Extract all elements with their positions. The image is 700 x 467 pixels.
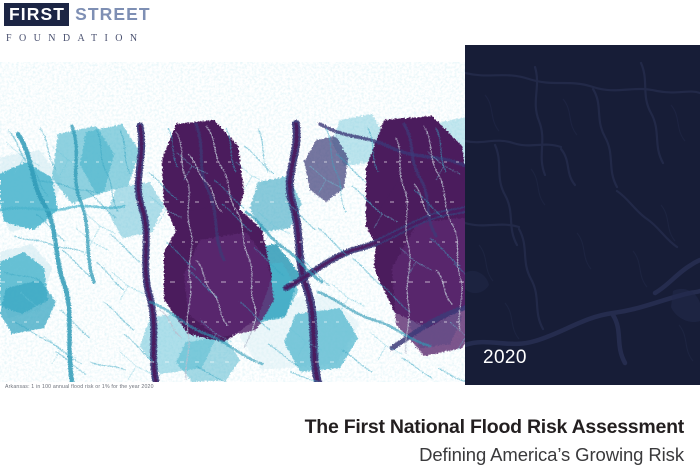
logo-street-text: STREET bbox=[75, 3, 151, 26]
logo-first-box: FIRST bbox=[4, 3, 69, 26]
page-title: The First National Flood Risk Assessment bbox=[14, 415, 684, 439]
year-label: 2020 bbox=[483, 347, 527, 369]
dark-panel-rivers-svg bbox=[465, 45, 700, 385]
logo-foundation-text: FOUNDATION bbox=[6, 34, 164, 44]
page-subtitle: Defining America’s Growing Risk bbox=[14, 443, 684, 467]
report-title-area: The First National Flood Risk Assessment… bbox=[14, 415, 684, 467]
map-caption: Arkansas: 1 in 100 annual flood risk or … bbox=[5, 384, 154, 390]
logo-wordmark-row: FIRST STREET bbox=[4, 3, 164, 26]
dark-year-panel: 2020 bbox=[465, 45, 700, 385]
logo-first-text: FIRST bbox=[9, 6, 65, 24]
first-street-foundation-logo: FIRST STREET FOUNDATION bbox=[4, 3, 164, 47]
